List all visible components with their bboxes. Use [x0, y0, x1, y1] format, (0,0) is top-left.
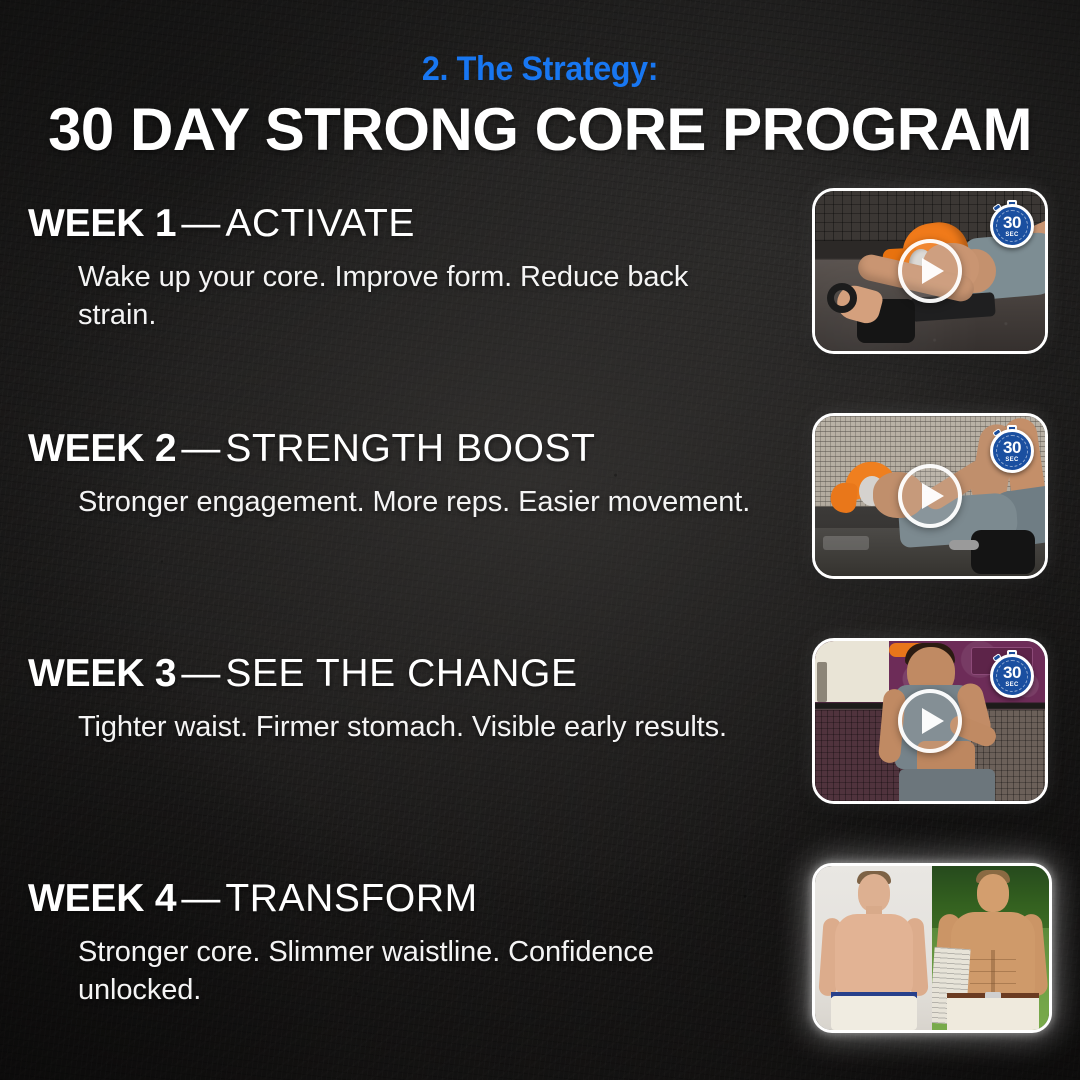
week-block-2: WEEK 2—STRENGTH BOOST Stronger engagemen…	[0, 411, 790, 636]
week-heading-1: WEEK 1—ACTIVATE	[28, 204, 415, 243]
week-name-4: TRANSFORM	[225, 877, 477, 920]
eyebrow-label: 2. The Strategy:	[27, 52, 1053, 86]
week-list: WEEK 1—ACTIVATE Wake up your core. Impro…	[0, 186, 790, 1080]
week-description-2: Stronger engagement. More reps. Easier m…	[78, 483, 758, 521]
week-block-4: WEEK 4—TRANSFORM Stronger core. Slimmer …	[0, 861, 790, 1080]
week-block-1: WEEK 1—ACTIVATE Wake up your core. Impro…	[0, 186, 790, 411]
week-block-3: WEEK 3—SEE THE CHANGE Tighter waist. Fir…	[0, 636, 790, 861]
week-description-3: Tighter waist. Firmer stomach. Visible e…	[78, 708, 758, 746]
week-label-3: WEEK 3	[28, 652, 176, 695]
poster-header: 2. The Strategy: 30 DAY STRONG CORE PROG…	[0, 0, 1080, 160]
video-thumbnail-week-2[interactable]: 30 SEC	[812, 413, 1048, 579]
week-dash-1: —	[176, 202, 225, 245]
badge-number-1: 30	[1003, 214, 1021, 231]
before-after-photo-week-4[interactable]	[812, 863, 1052, 1033]
play-icon[interactable]	[898, 464, 962, 528]
week-heading-4: WEEK 4—TRANSFORM	[28, 879, 478, 918]
week-dash-4: —	[176, 877, 225, 920]
stopwatch-icon: 30 SEC	[990, 200, 1036, 246]
badge-unit-2: SEC	[1005, 457, 1018, 463]
before-photo	[815, 866, 932, 1030]
strategy-poster: 2. The Strategy: 30 DAY STRONG CORE PROG…	[0, 0, 1080, 1080]
badge-number-2: 30	[1003, 439, 1021, 456]
week-name-2: STRENGTH BOOST	[225, 427, 595, 470]
week-heading-3: WEEK 3—SEE THE CHANGE	[28, 654, 578, 693]
thumbnail-image-week-4	[815, 866, 1049, 1030]
week-dash-2: —	[176, 427, 225, 470]
week-label-4: WEEK 4	[28, 877, 176, 920]
week-label-2: WEEK 2	[28, 427, 176, 470]
stopwatch-icon: 30 SEC	[990, 650, 1036, 696]
play-icon[interactable]	[898, 239, 962, 303]
page-title: 30 DAY STRONG CORE PROGRAM	[0, 100, 1080, 160]
badge-unit-1: SEC	[1005, 232, 1018, 238]
week-label-1: WEEK 1	[28, 202, 176, 245]
week-name-1: ACTIVATE	[225, 202, 415, 245]
week-name-3: SEE THE CHANGE	[225, 652, 577, 695]
video-thumbnail-week-3[interactable]: 30 SEC	[812, 638, 1048, 804]
week-description-1: Wake up your core. Improve form. Reduce …	[78, 258, 758, 335]
badge-number-3: 30	[1003, 664, 1021, 681]
stopwatch-icon: 30 SEC	[990, 425, 1036, 471]
week-description-4: Stronger core. Slimmer waistline. Confid…	[78, 933, 758, 1010]
week-heading-2: WEEK 2—STRENGTH BOOST	[28, 429, 596, 468]
play-icon[interactable]	[898, 689, 962, 753]
week-dash-3: —	[176, 652, 225, 695]
after-photo	[932, 866, 1049, 1030]
badge-unit-3: SEC	[1005, 682, 1018, 688]
video-thumbnail-week-1[interactable]: 30 SEC	[812, 188, 1048, 354]
